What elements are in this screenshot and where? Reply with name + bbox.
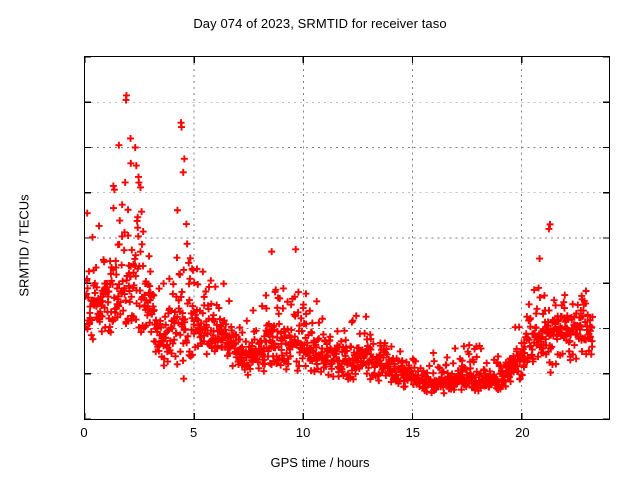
- axis-tick-labels: 00.10.20.30.40.50.60.70.805101520: [0, 0, 640, 480]
- x-axis-title: GPS time / hours: [0, 455, 640, 470]
- x-tick-label: 20: [515, 425, 529, 440]
- x-tick-label: 5: [190, 425, 197, 440]
- y-axis-title: SRMTID / TECUs: [17, 146, 32, 346]
- x-tick-label: 10: [296, 425, 310, 440]
- x-tick-label: 15: [406, 425, 420, 440]
- chart-root: Day 074 of 2023, SRMTID for receiver tas…: [0, 0, 640, 480]
- x-tick-label: 0: [80, 425, 87, 440]
